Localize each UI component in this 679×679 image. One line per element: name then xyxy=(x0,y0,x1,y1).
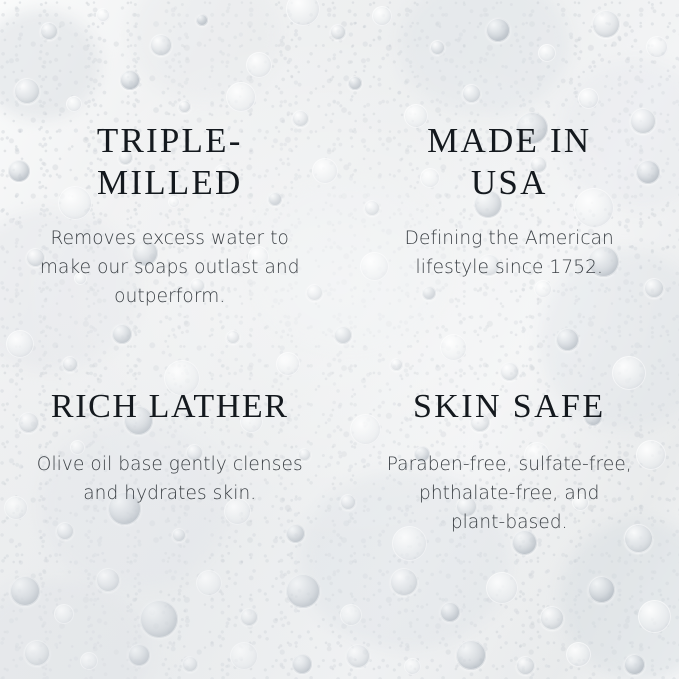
benefit-heading-rich-lather: RICH LATHER xyxy=(51,386,289,428)
soap-benefits-infographic: TRIPLE- MILLED Removes excess water to m… xyxy=(0,0,679,679)
benefit-body-skin-safe: Paraben-free, sulfate-free, phthalate-fr… xyxy=(375,450,643,537)
benefit-heading-made-in-usa: MADE IN USA xyxy=(427,120,591,204)
benefit-body-triple-milled: Removes excess water to make our soaps o… xyxy=(34,224,306,311)
benefit-body-rich-lather: Olive oil base gently clenses and hydrat… xyxy=(20,450,320,508)
benefit-cell-made-in-usa: MADE IN USA Defining the American lifest… xyxy=(340,0,679,340)
benefit-cell-triple-milled: TRIPLE- MILLED Removes excess water to m… xyxy=(0,0,340,340)
benefits-grid: TRIPLE- MILLED Removes excess water to m… xyxy=(0,0,679,679)
benefit-cell-skin-safe: SKIN SAFE Paraben-free, sulfate-free, ph… xyxy=(340,340,679,679)
benefit-heading-triple-milled: TRIPLE- MILLED xyxy=(97,120,243,204)
benefit-cell-rich-lather: RICH LATHER Olive oil base gently clense… xyxy=(0,340,340,679)
benefit-body-made-in-usa: Defining the American lifestyle since 17… xyxy=(389,224,629,282)
benefit-heading-skin-safe: SKIN SAFE xyxy=(413,386,606,428)
